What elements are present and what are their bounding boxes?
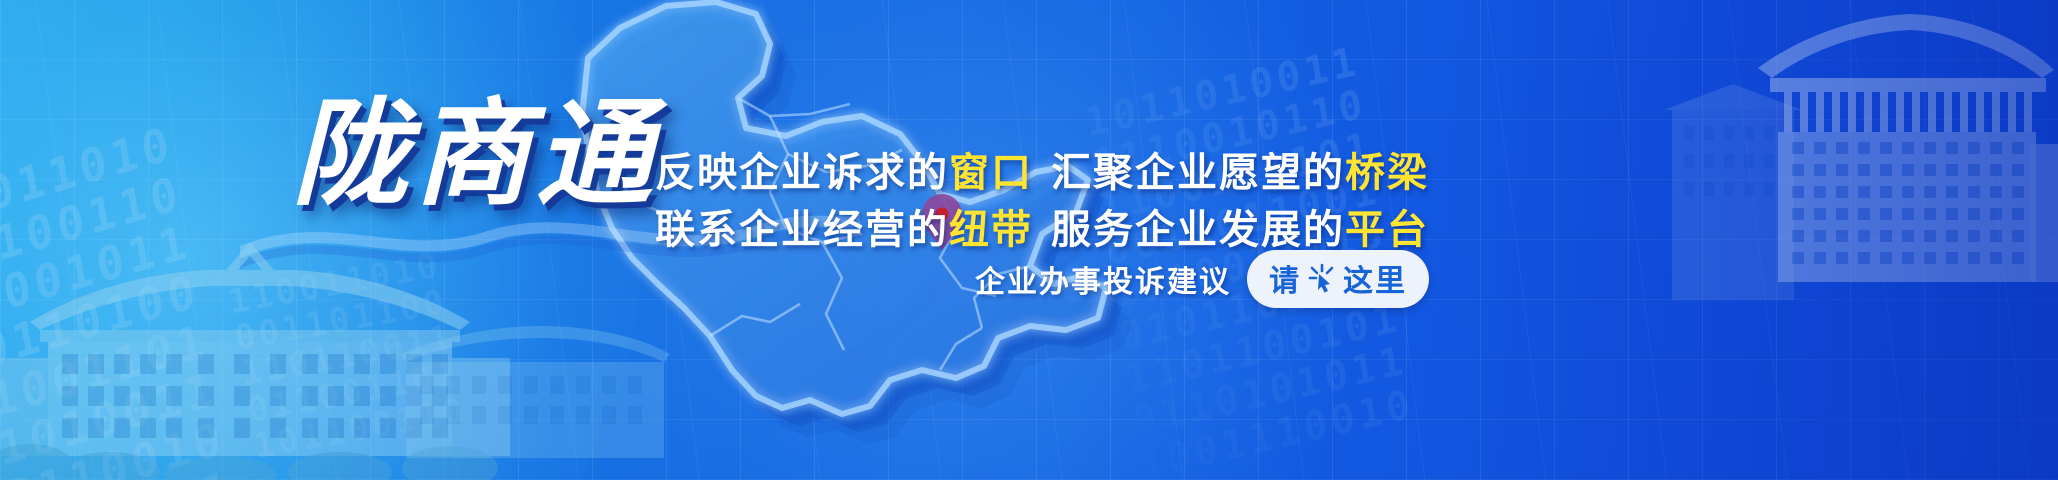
click-here-button[interactable]: 请 这里 (1247, 250, 1429, 308)
slogan-block: 反映企业诉求的窗口汇聚企业愿望的桥梁 联系企业经营的纽带服务企业发展的平台 (655, 145, 1275, 259)
click-tap-icon (1307, 263, 1337, 293)
cta-label: 企业办事投诉建议 (975, 257, 1231, 301)
brand-title: 陇商通 (292, 96, 658, 212)
slogan-2-highlight-2: 平台 (1345, 208, 1429, 252)
banner-content: 陇商通 反映企业诉求的窗口汇聚企业愿望的桥梁 联系企业经营的纽带服务企业发展的平… (0, 0, 2058, 480)
slogan-2-part-1: 联系企业经营的 (655, 208, 949, 252)
slogan-line-1: 反映企业诉求的窗口汇聚企业愿望的桥梁 (655, 145, 1275, 202)
click-here-prefix: 请 (1269, 256, 1301, 300)
slogan-2-highlight-1: 纽带 (949, 208, 1033, 252)
slogan-1-highlight-1: 窗口 (949, 151, 1033, 195)
slogan-1-part-1: 反映企业诉求的 (655, 151, 949, 195)
slogan-2-part-2: 服务企业发展的 (1051, 208, 1345, 252)
promo-banner: 1001011010 0110100110 1011001011 0100110… (0, 0, 2058, 480)
slogan-1-part-2: 汇聚企业愿望的 (1051, 151, 1345, 195)
cta-row: 企业办事投诉建议 请 这里 (975, 250, 1429, 308)
slogan-1-highlight-2: 桥梁 (1345, 151, 1429, 195)
click-here-suffix: 这里 (1343, 256, 1407, 300)
